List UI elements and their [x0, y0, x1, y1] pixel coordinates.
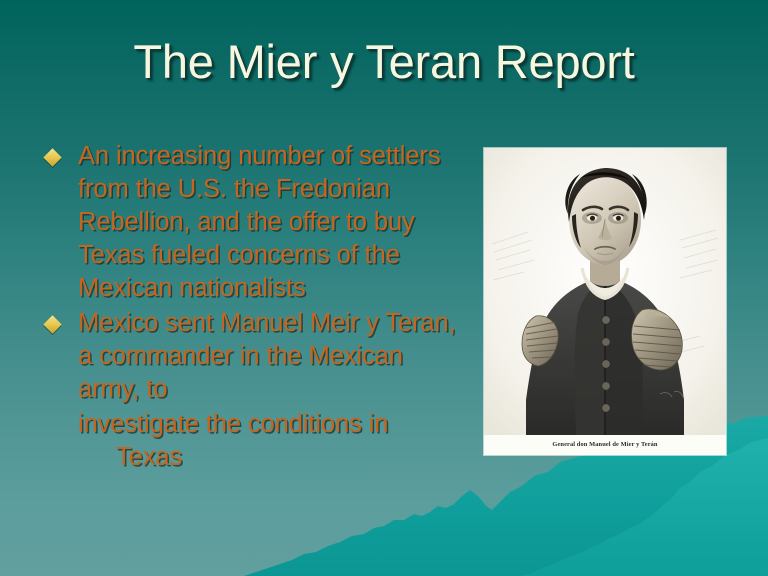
bullet-text: Mexico sent Manuel Meir y Teran, a comma…: [78, 307, 468, 406]
diamond-bullet-icon: [43, 148, 61, 166]
picture-caption: General don Manuel de Mier y Terán: [484, 441, 726, 448]
diamond-bullet-icon: [43, 315, 61, 333]
continuation-line: investigate the conditions in: [78, 408, 468, 441]
slide-body: An increasing number of settlers from th…: [38, 140, 468, 474]
portrait-image: General don Manuel de Mier y Terán: [484, 148, 726, 455]
bullet-text: An increasing number of settlers from th…: [78, 140, 468, 305]
continuation-line-indented: Texas: [116, 441, 468, 474]
presentation-slide: The Mier y Teran Report An increasing nu…: [0, 0, 768, 576]
portrait-engraving-graphic: [484, 148, 726, 435]
bullet-item: An increasing number of settlers from th…: [38, 140, 468, 305]
bullet-item: Mexico sent Manuel Meir y Teran, a comma…: [38, 307, 468, 406]
slide-title: The Mier y Teran Report: [0, 34, 768, 90]
